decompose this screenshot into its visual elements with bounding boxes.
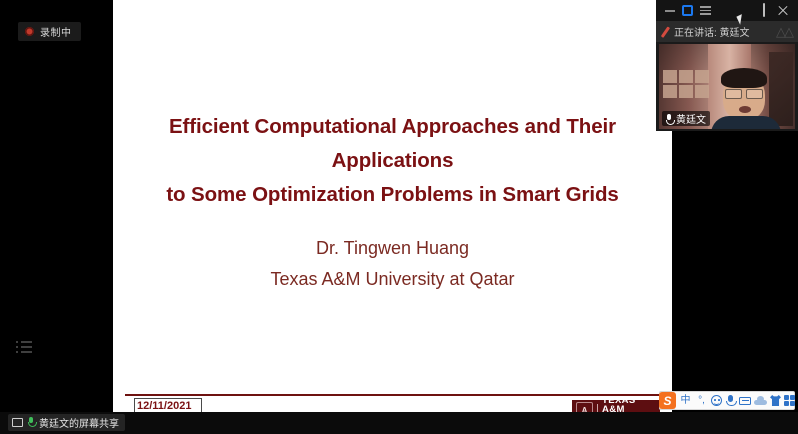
ime-punctuation-mode-button[interactable]: °, <box>695 396 708 406</box>
taskbar-item-screen-share[interactable]: 黄廷文的屏幕共享 <box>8 414 125 431</box>
speaking-label: 正在讲话: 黄廷文 <box>674 24 750 39</box>
sogou-logo-icon[interactable]: S <box>659 392 676 409</box>
recording-dot-icon <box>25 27 34 36</box>
slide-title-line-1: Efficient Computational Approaches and T… <box>133 110 652 178</box>
participant-torso <box>711 116 781 129</box>
pencil-annotate-icon[interactable] <box>656 26 674 38</box>
recording-indicator: 录制中 <box>18 22 81 41</box>
video-background-blocks <box>663 70 709 98</box>
soft-keyboard-icon[interactable] <box>739 397 751 405</box>
voice-input-icon[interactable] <box>725 395 736 407</box>
slide-title-line-2: to Some Optimization Problems in Smart G… <box>133 178 652 212</box>
screen-share-icon <box>12 418 23 427</box>
minimize-icon[interactable] <box>665 10 675 12</box>
window-restore-icon[interactable] <box>763 5 765 16</box>
hamburger-menu-icon[interactable] <box>700 6 711 15</box>
slide-title: Efficient Computational Approaches and T… <box>133 110 652 212</box>
skin-icon[interactable] <box>770 395 781 406</box>
audio-level-icon: △△ <box>776 24 798 40</box>
taskbar-item-label: 黄廷文的屏幕共享 <box>39 415 119 430</box>
participant-hair <box>721 68 767 88</box>
participant-mouth <box>739 106 751 113</box>
emoji-icon[interactable] <box>711 395 722 406</box>
participant-video[interactable]: 黄廷文 <box>659 44 795 129</box>
window-controls <box>750 5 798 16</box>
slide-author-affiliation: Texas A&M University at Qatar <box>133 264 652 295</box>
view-toggle-icon[interactable] <box>682 5 693 16</box>
microphone-icon <box>27 417 35 428</box>
slide-author-name: Dr. Tingwen Huang <box>133 233 652 264</box>
slide-footer-rule <box>125 394 659 396</box>
speaking-bar: 正在讲话: 黄廷文 △△ <box>656 21 798 42</box>
video-thumbnail-window[interactable]: 正在讲话: 黄廷文 △△ 黄廷文 <box>656 0 798 131</box>
ime-language-mode-button[interactable]: 中 <box>679 396 692 406</box>
participant-glasses <box>725 89 763 98</box>
video-background-object <box>769 52 793 126</box>
slide-date: 12/11/2021 <box>137 399 199 413</box>
slide-author-block: Dr. Tingwen Huang Texas A&M University a… <box>133 233 652 295</box>
presentation-slide: Efficient Computational Approaches and T… <box>113 0 672 421</box>
apps-icon[interactable] <box>784 395 795 406</box>
ime-toolbar[interactable]: S 中 °, <box>659 391 795 410</box>
recording-label: 录制中 <box>40 24 72 39</box>
taskbar: 黄廷文的屏幕共享 <box>0 412 798 434</box>
video-window-titlebar <box>656 0 798 21</box>
toolbox-icon[interactable] <box>754 396 767 405</box>
window-close-icon[interactable] <box>778 6 788 16</box>
screen-share-view: 录制中 Efficient Computational Approaches a… <box>0 0 798 434</box>
participant-name-badge: 黄廷文 <box>662 111 710 126</box>
participant-name: 黄廷文 <box>676 111 706 126</box>
video-view-controls <box>656 5 711 16</box>
list-icon[interactable] <box>16 341 32 355</box>
microphone-icon <box>664 113 674 125</box>
